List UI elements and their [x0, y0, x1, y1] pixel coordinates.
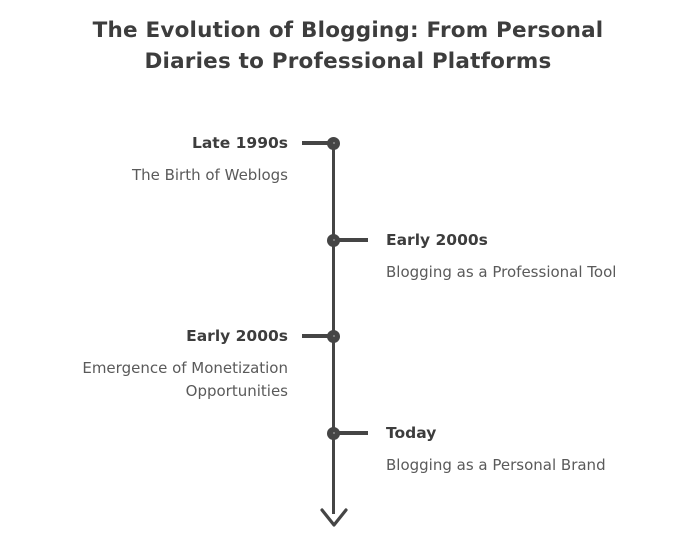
entry-description-4: Blogging as a Personal Brand	[386, 454, 676, 477]
timeline-node-4[interactable]	[327, 427, 340, 440]
timeline-entry-3: Early 2000s Emergence of Monetization Op…	[0, 326, 288, 403]
title-line-2: Diaries to Professional Platforms	[0, 46, 696, 77]
entry-label-4: Today	[386, 423, 686, 443]
timeline-arrow-icon	[318, 504, 350, 530]
infographic-canvas: The Evolution of Blogging: From Personal…	[0, 0, 696, 533]
timeline-axis	[332, 143, 335, 514]
timeline-node-2[interactable]	[327, 234, 340, 247]
timeline-entry-4: Today Blogging as a Personal Brand	[386, 423, 686, 477]
timeline-node-1[interactable]	[327, 137, 340, 150]
title-line-1: The Evolution of Blogging: From Personal	[93, 18, 604, 43]
entry-label-2: Early 2000s	[386, 230, 686, 250]
timeline-entry-2: Early 2000s Blogging as a Professional T…	[386, 230, 686, 284]
entry-label-3: Early 2000s	[0, 326, 288, 346]
timeline-node-3[interactable]	[327, 330, 340, 343]
entry-description-1: The Birth of Weblogs	[0, 164, 288, 187]
page-title: The Evolution of Blogging: From Personal…	[0, 15, 696, 77]
entry-description-3: Emergence of Monetization Opportunities	[0, 357, 288, 403]
timeline-entry-1: Late 1990s The Birth of Weblogs	[0, 133, 288, 187]
entry-description-2: Blogging as a Professional Tool	[386, 261, 676, 284]
entry-label-1: Late 1990s	[0, 133, 288, 153]
